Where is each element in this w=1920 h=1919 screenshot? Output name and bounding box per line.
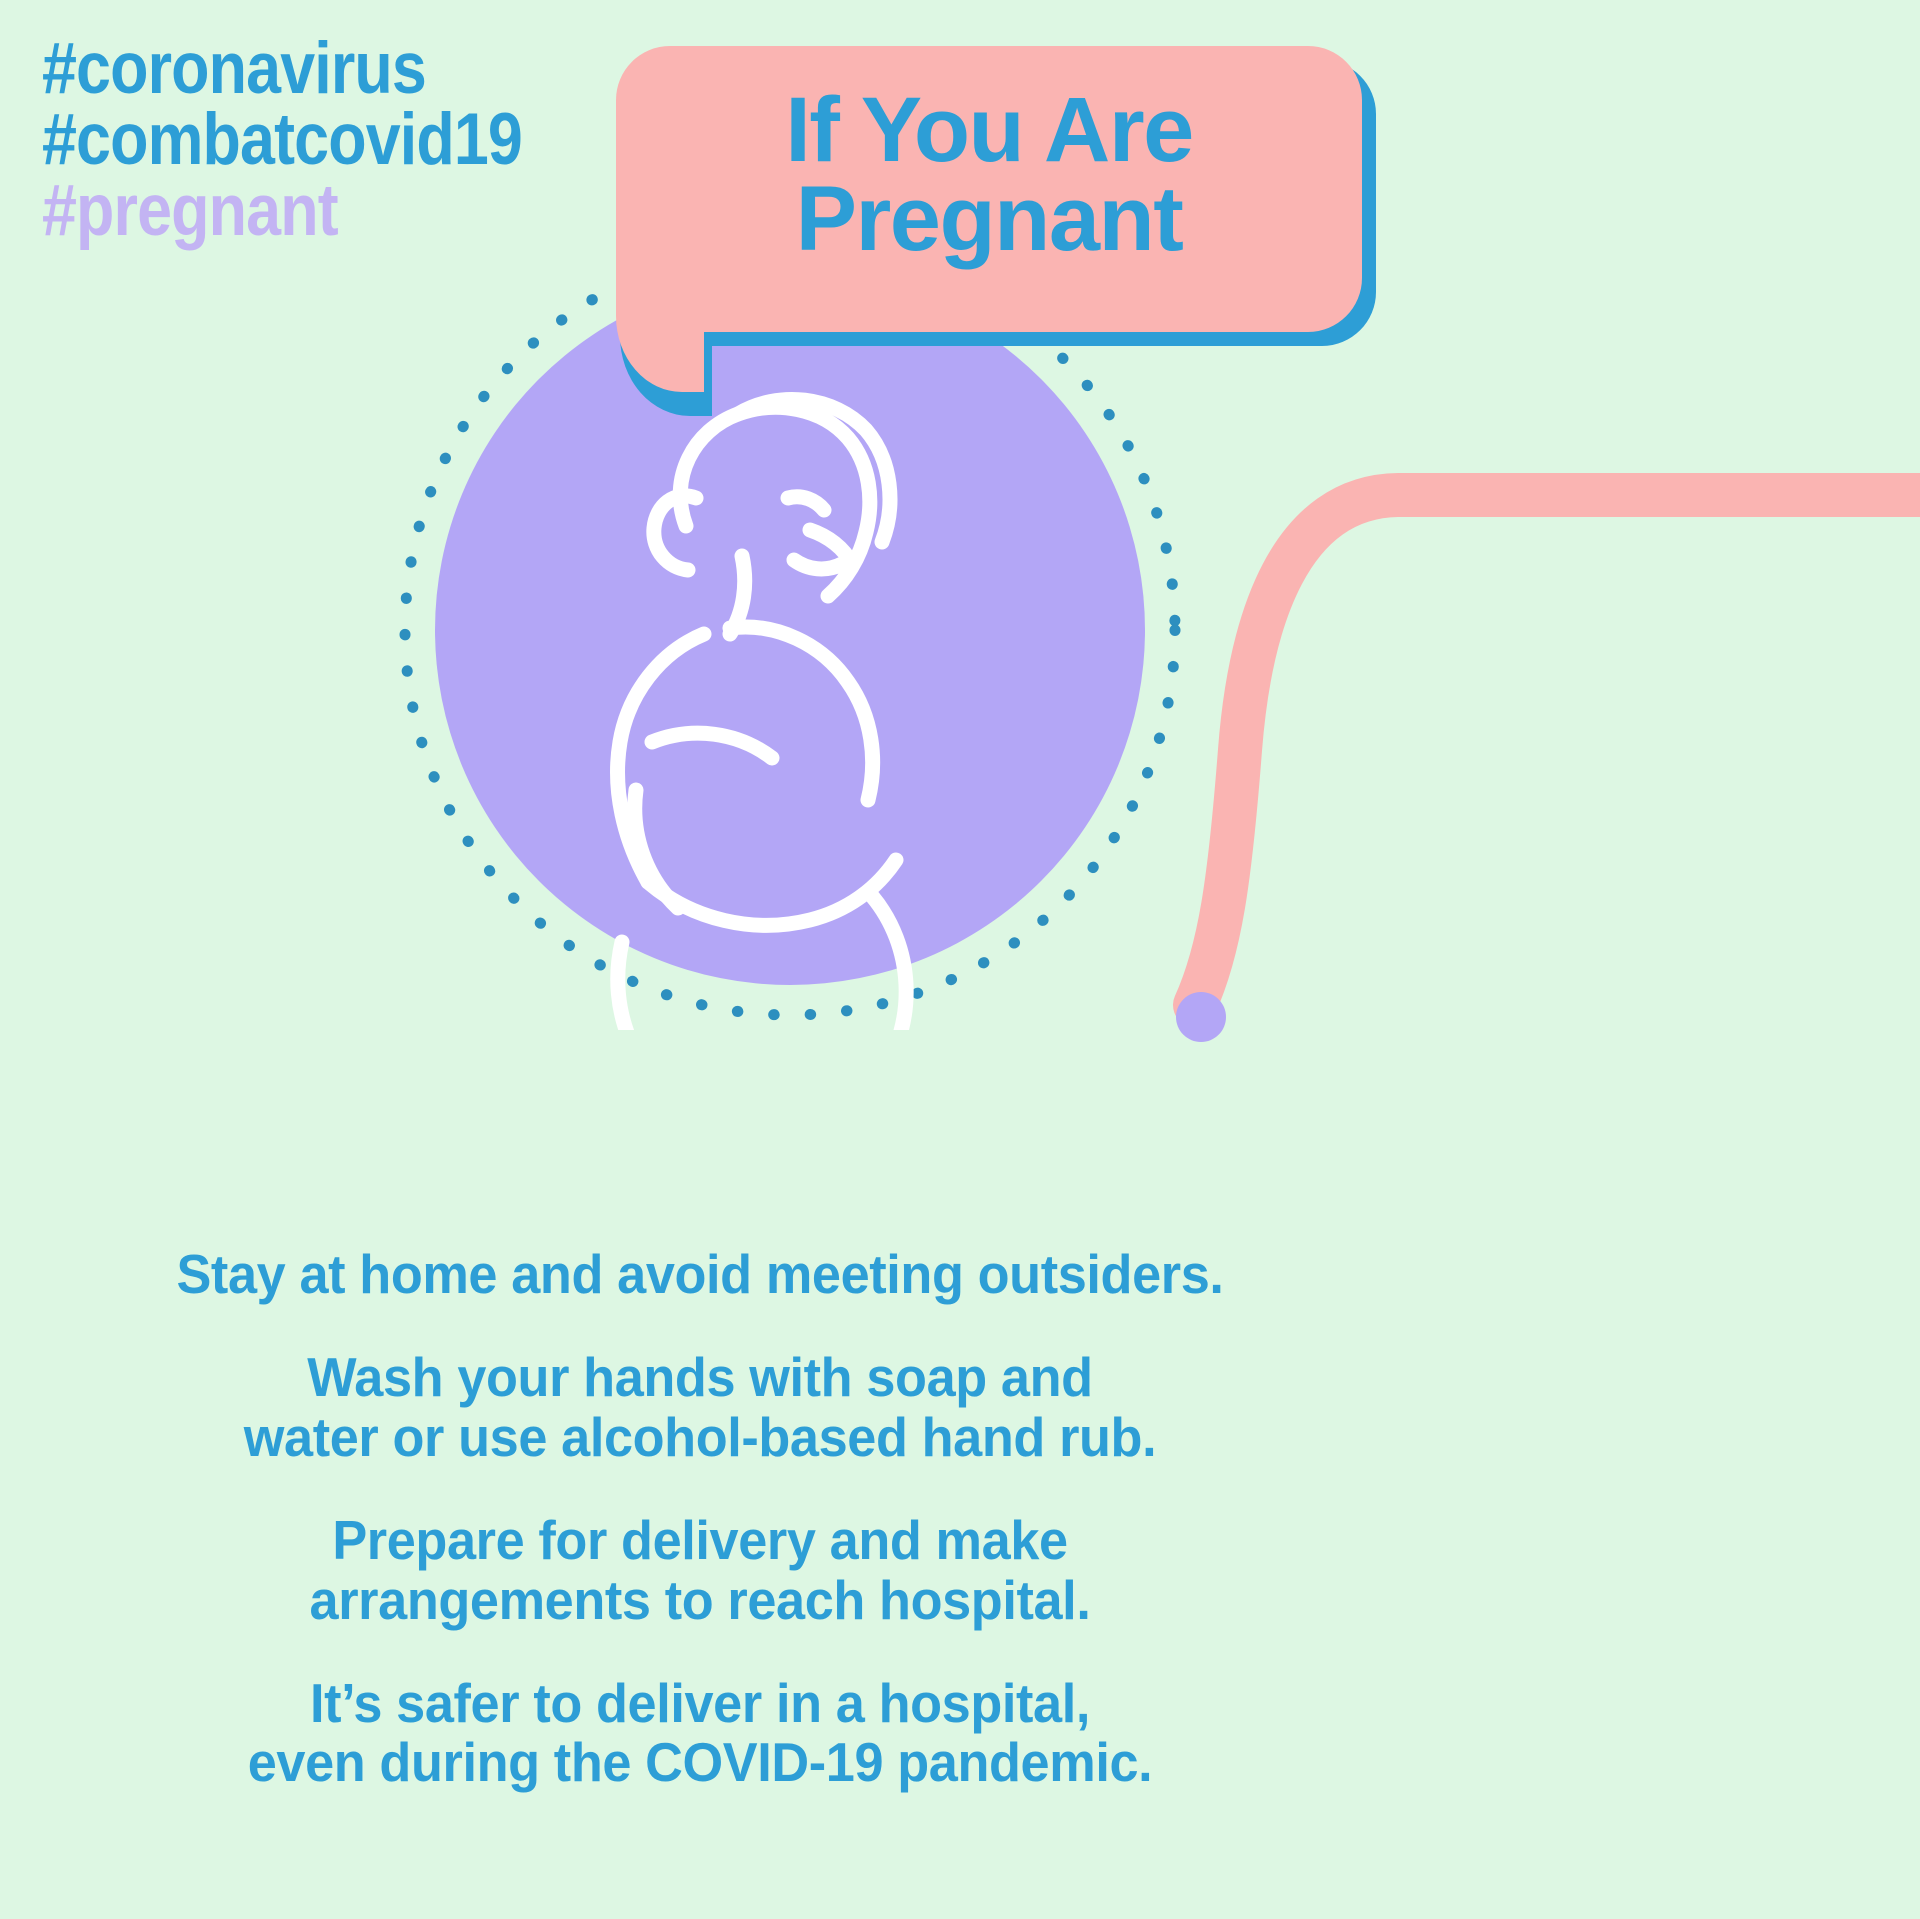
tip-item: Wash your hands with soap and water or u… xyxy=(35,1348,1365,1467)
hashtag-block: #coronavirus #combatcovid19 #pregnant xyxy=(42,34,600,246)
bubble-title-line-2: Pregnant xyxy=(796,168,1183,270)
tip-item: Stay at home and avoid meeting outsiders… xyxy=(35,1245,1365,1304)
tip-line: even during the COVID-19 pandemic. xyxy=(35,1733,1365,1792)
hashtag-combatcovid19: #combatcovid19 xyxy=(42,105,522,176)
arc-path xyxy=(1195,495,1920,1005)
tip-line: Stay at home and avoid meeting outsiders… xyxy=(35,1245,1365,1304)
bubble-title: If You Are Pregnant xyxy=(616,86,1362,264)
tip-line: water or use alcohol-based hand rub. xyxy=(35,1408,1365,1467)
tip-item: Prepare for delivery and make arrangemen… xyxy=(35,1511,1365,1630)
speech-bubble: If You Are Pregnant xyxy=(616,46,1376,396)
tip-line: Wash your hands with soap and xyxy=(35,1348,1365,1407)
hashtag-coronavirus: #coronavirus xyxy=(42,34,522,105)
purple-dot-decoration xyxy=(1176,992,1226,1042)
bubble-title-line-1: If You Are xyxy=(785,79,1193,181)
pink-arc-decoration xyxy=(1140,450,1920,1070)
tip-line: Prepare for delivery and make xyxy=(35,1511,1365,1570)
tips-block: Stay at home and avoid meeting outsiders… xyxy=(0,1245,1400,1793)
tip-line: arrangements to reach hospital. xyxy=(35,1571,1365,1630)
poster-canvas: #coronavirus #combatcovid19 #pregnant xyxy=(0,0,1920,1919)
tip-item: It’s safer to deliver in a hospital, eve… xyxy=(35,1674,1365,1793)
tip-line: It’s safer to deliver in a hospital, xyxy=(35,1674,1365,1733)
